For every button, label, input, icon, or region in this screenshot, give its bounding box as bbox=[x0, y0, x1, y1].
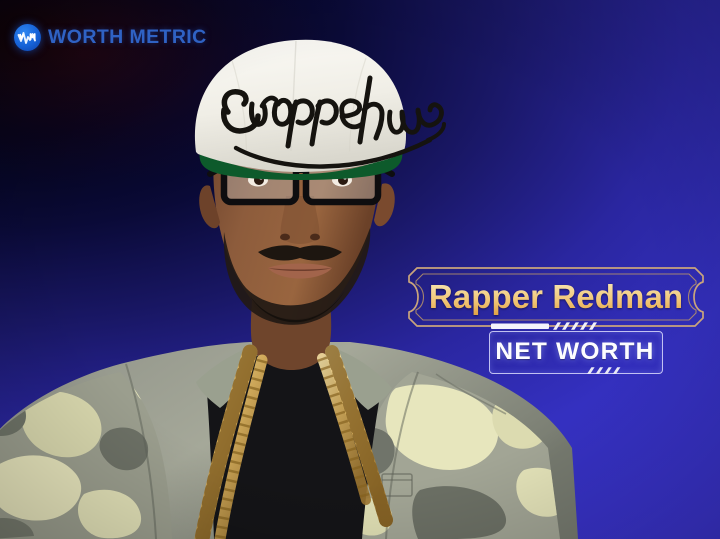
promo-graphic: WORTH METRIC Rapper Redman bbox=[0, 0, 720, 539]
badge-bottom-decoration-icon bbox=[587, 366, 633, 376]
worth-metric-logo-text: WORTH METRIC bbox=[48, 26, 207, 49]
worth-metric-logo[interactable]: WORTH METRIC bbox=[14, 24, 207, 51]
badge-title: Rapper Redman bbox=[401, 268, 711, 326]
badge-subtitle: NET WORTH bbox=[489, 331, 661, 372]
net-worth-badge: Rapper Redman NET WORTH bbox=[401, 262, 711, 380]
worth-metric-monogram-icon bbox=[14, 24, 41, 51]
